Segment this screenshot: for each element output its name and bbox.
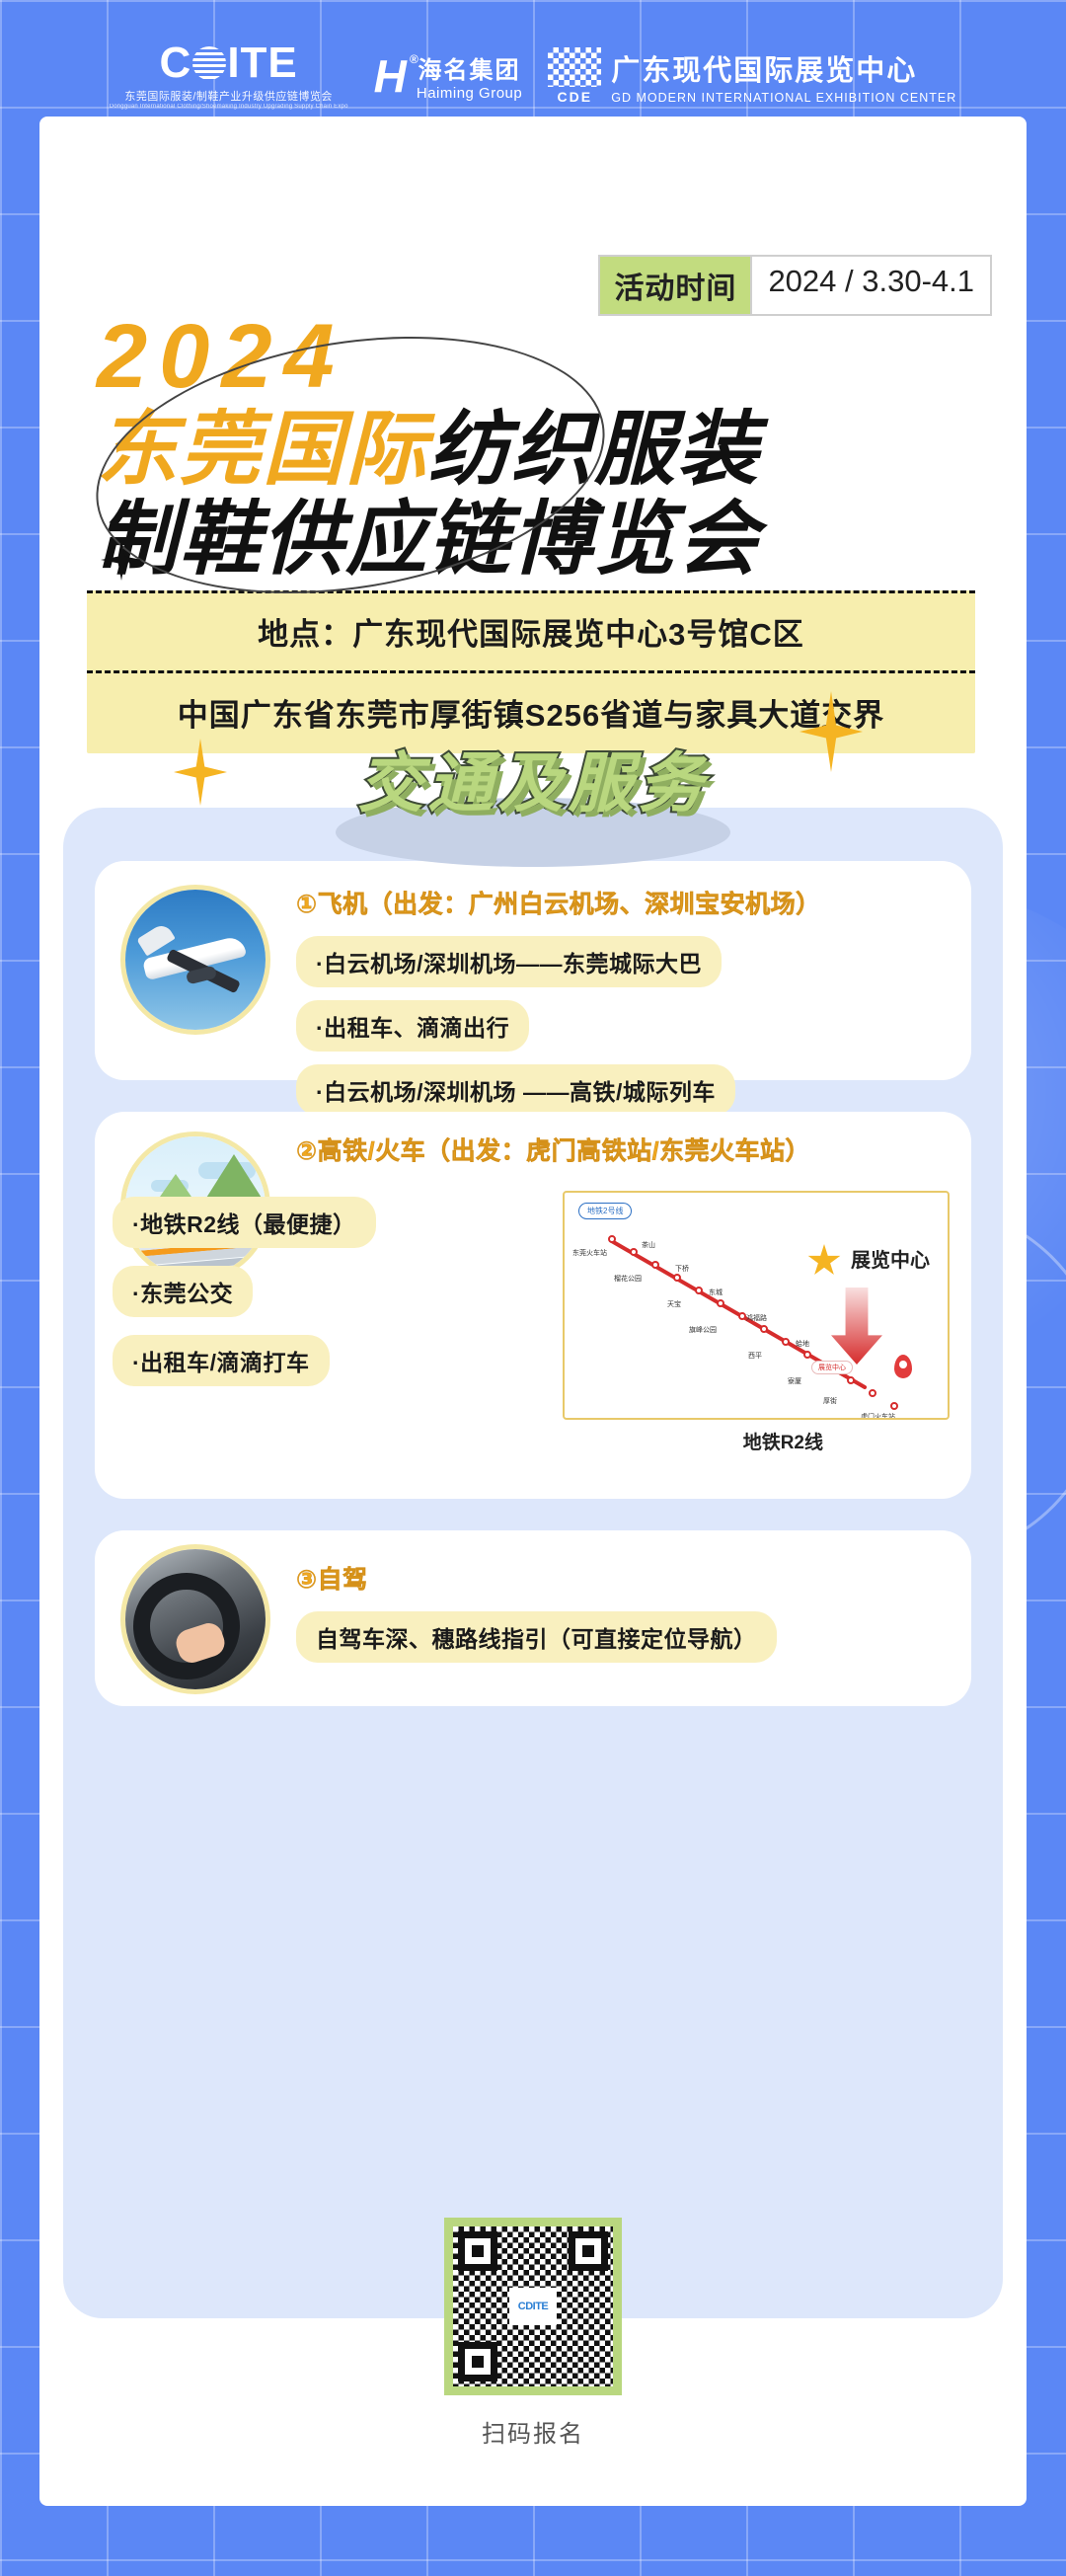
title-line-1-black: 纺织服装 (428, 405, 760, 495)
metro-station-7: 鸿福路 (746, 1313, 767, 1323)
self-drive-item-1: 自驾车深、穗路线指引（可直接定位导航） (296, 1611, 777, 1663)
haiming-name-cn: 海名集团 (419, 50, 521, 85)
venue-line-1: 地点：广东现代国际展览中心3号馆C区 (87, 592, 975, 673)
page-title: 2024 东莞国际纺织服装 制鞋供应链博览会 (97, 309, 985, 585)
metro-map[interactable]: 地铁2号线 东莞火车站 茶山 榴花公园 下桥 天宝 东城 旗峰公园 鸿福路 (563, 1191, 950, 1420)
qr-code[interactable]: CDITE (444, 2218, 622, 2395)
gdmie-name-cn: 广东现代国际展览中心 (611, 47, 956, 89)
metro-station-3: 下桥 (675, 1264, 689, 1274)
train-item-1: ·地铁R2线（最便捷） (113, 1197, 376, 1248)
title-line-1: 东莞国际纺织服装 (97, 405, 985, 496)
transport-card-self-drive: ③自驾 自驾车深、穗路线指引（可直接定位导航） (95, 1530, 971, 1706)
metro-station-8: 西平 (748, 1351, 762, 1361)
gdmie-checker-icon (548, 47, 601, 87)
exhibition-star-icon (807, 1244, 841, 1278)
metro-station-9: 蛤地 (796, 1339, 809, 1349)
metro-station-1: 茶山 (642, 1240, 655, 1250)
gdmie-logo: CDE 广东现代国际展览中心 GD MODERN INTERNATIONAL E… (548, 47, 956, 105)
airplane-item-2: ·出租车、滴滴出行 (296, 1000, 529, 1052)
cdite-wordmark: CITE (160, 41, 298, 85)
metro-station-10: 寮厦 (788, 1376, 801, 1386)
event-date-badge: 活动时间 2024 / 3.30-4.1 (598, 255, 992, 316)
self-drive-mode-title: ③自驾 (296, 1560, 948, 1596)
transport-card-train: ②高铁/火车（出发：虎门高铁站/东莞火车站） ·地铁R2线（最便捷） ·东莞公交… (95, 1112, 971, 1499)
metro-station-12: 厚街 (823, 1396, 837, 1406)
section-title-text: 交通及服务 (358, 731, 709, 825)
metro-station-2: 榴花公园 (614, 1274, 642, 1284)
airplane-mode-title: ①飞机（出发：广州白云机场、深圳宝安机场） (296, 885, 948, 920)
cdite-subtitle-cn: 东莞国际服装/制鞋产业升级供应链博览会 (124, 88, 333, 104)
cdite-subtitle-en: Dongguan International Clothing/Shoemaki… (110, 104, 348, 110)
metro-station-13: 虎门火车站 (861, 1412, 895, 1420)
poster-card: 活动时间 2024 / 3.30-4.1 2024 东莞国际纺织服装 制鞋供应链… (39, 117, 1027, 2506)
train-item-3: ·出租车/滴滴打车 (113, 1335, 330, 1386)
airplane-item-3: ·白云机场/深圳机场 ——高铁/城际列车 (296, 1064, 735, 1116)
train-item-2: ·东莞公交 (113, 1266, 253, 1317)
haiming-logo: H® 海名集团 Haiming Group (374, 50, 523, 102)
metro-station-6: 旗峰公园 (689, 1325, 717, 1335)
steering-wheel-icon (120, 1544, 270, 1694)
metro-map-caption: 地铁R2线 (743, 1428, 823, 1454)
location-pin-icon (894, 1355, 912, 1378)
qr-section: CDITE 扫码报名 (39, 2218, 1027, 2449)
qr-finder-top-left (458, 2231, 497, 2271)
cdite-o-icon (192, 46, 226, 80)
metro-line-badge: 地铁2号线 (578, 1203, 632, 1219)
title-year: 2024 (97, 309, 985, 405)
haiming-name-en: Haiming Group (417, 85, 522, 102)
metro-station-0: 东莞火车站 (572, 1248, 607, 1258)
down-arrow-icon (831, 1288, 882, 1365)
train-mode-title: ②高铁/火车（出发：虎门高铁站/东莞火车站） (296, 1132, 948, 1167)
gdmie-name-en: GD MODERN INTERNATIONAL EXHIBITION CENTE… (611, 91, 956, 105)
metro-station-4: 天宝 (667, 1299, 681, 1309)
airplane-item-1: ·白云机场/深圳机场——东莞城际大巴 (296, 936, 722, 987)
exhibition-center-label: 展览中心 (851, 1244, 930, 1273)
qr-finder-bottom-left (458, 2342, 497, 2381)
qr-center-logo: CDITE (509, 2288, 557, 2325)
haiming-mark-icon: H® (374, 53, 407, 99)
metro-station-5: 东城 (709, 1288, 723, 1297)
transport-panel: 交通及服务 ①飞机（出发：广州白云机场、深圳宝安机场） ·白云机场/深圳机场——… (63, 808, 1003, 2318)
qr-caption: 扫码报名 (39, 2414, 1027, 2449)
title-line-1-orange: 东莞国际 (97, 405, 428, 495)
event-date-label: 活动时间 (600, 257, 752, 314)
exhibition-stop-label: 展览中心 (811, 1361, 853, 1374)
cdite-logo: CITE 东莞国际服装/制鞋产业升级供应链博览会 Dongguan Intern… (110, 41, 348, 110)
airplane-icon (120, 885, 270, 1035)
header-logo-bar: CITE 东莞国际服装/制鞋产业升级供应链博览会 Dongguan Intern… (0, 41, 1066, 110)
train-item-list: ·地铁R2线（最便捷） ·东莞公交 ·出租车/滴滴打车 (113, 1197, 438, 1404)
title-line-2: 制鞋供应链博览会 (97, 495, 985, 585)
section-header: 交通及服务 (63, 731, 1003, 825)
transport-card-airplane: ①飞机（出发：广州白云机场、深圳宝安机场） ·白云机场/深圳机场——东莞城际大巴… (95, 861, 971, 1080)
event-date-value: 2024 / 3.30-4.1 (752, 257, 990, 314)
gdmie-cde-mark: CDE (557, 89, 592, 105)
qr-finder-top-right (569, 2231, 608, 2271)
